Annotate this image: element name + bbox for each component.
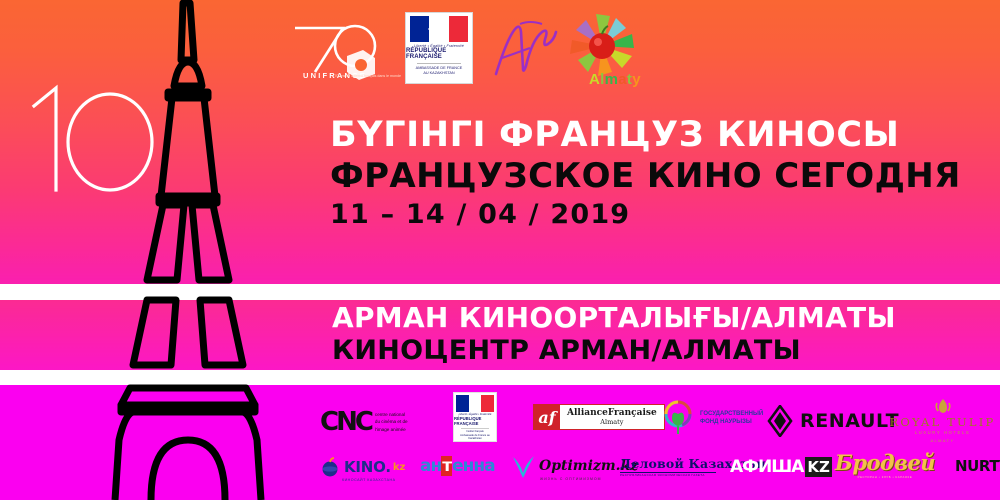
nurtv-kz-logo: NURTV KZ [955, 455, 1000, 477]
antenna-part-2: т [441, 456, 452, 476]
almaty-wordmark: Almaty [589, 71, 641, 88]
almaty-signature-icon [490, 18, 560, 80]
kino-wordmark: KINO. [344, 458, 391, 476]
renault-logo: RENAULT [767, 406, 899, 436]
french-flag-icon [456, 395, 494, 412]
alliance-francaise-logo: af AllianceFrançaise Almaty [533, 404, 665, 430]
delovoy-kazakhstan-tagline: РЕСПУБЛИКАНСКАЯ ЭКОНОМИЧЕСКАЯ ГАЗЕТА [620, 473, 705, 477]
cnc-wordmark: CNC [320, 407, 371, 437]
afisha-kz-logo: АФИША KZ [730, 455, 832, 479]
festival-poster: UNIFRANCE 70 ans de cinéma français dans… [0, 0, 1000, 500]
venue-block: АРМАН КИНООРТАЛЫҒЫ/АЛМАТЫ КИНОЦЕНТР АРМА… [332, 303, 972, 365]
antenna-part-1: ан [420, 456, 441, 476]
af-monogram: af [534, 405, 560, 429]
embassy-line-2: AU KAZAKHSTAN [423, 71, 454, 76]
divider [461, 428, 489, 429]
cnc-logo: CNC centre nationaldu cinéma et del'imag… [320, 406, 408, 438]
festival-title-kazakh: БҮГІНГІ ФРАНЦУЗ КИНОСЫ [330, 118, 970, 154]
royal-tulip-logo: ROYAL TULIP LUXURY HOTELS ALMATY [890, 398, 995, 443]
kino-suffix: kz [393, 462, 405, 473]
royal-tulip-city: ALMATY [930, 438, 954, 443]
renault-diamond-icon [767, 405, 793, 437]
tulip-flower-icon [661, 400, 695, 436]
royal-tulip-tagline: LUXURY HOTELS [915, 430, 971, 435]
nurtv-wordmark: NURTV [955, 457, 1000, 475]
headline-block: БҮГІНГІ ФРАНЦУЗ КИНОСЫ ФРАНЦУЗСКОЕ КИНО … [330, 118, 970, 230]
republique-francaise-embassy-logo: Liberté • Égalité • Fraternité RÉPUBLIQU… [405, 12, 473, 84]
antenna-part-3: енна [452, 456, 495, 476]
organizer-logo-strip: UNIFRANCE 70 ans de cinéma français dans… [285, 10, 665, 90]
royal-tulip-crown-icon [933, 398, 953, 414]
renault-wordmark: RENAULT [800, 410, 899, 432]
alliance-francaise-name: AllianceFrançaise [567, 408, 657, 418]
alliance-francaise-city: Almaty [567, 418, 657, 426]
brodvey-logo: Бродвей РЕСТОРАН • КЛУБ • КАРАОКЕ [835, 450, 935, 479]
republique-francaise-logo: Liberté • Égalité • Fraternité RÉPUBLIQU… [453, 392, 497, 442]
tulip-flower-logo: ГОСУДАРСТВЕННЫЙФОНД НАУРЫЗЫ [661, 400, 763, 436]
french-flag-icon [410, 16, 468, 42]
kino-apple-icon [320, 457, 340, 477]
republique-francaise-label: RÉPUBLIQUE FRANÇAISE [406, 48, 472, 60]
sponsor-logo-grid: CNC centre nationaldu cinéma et del'imag… [305, 392, 995, 497]
royal-tulip-wordmark: ROYAL TULIP [890, 415, 996, 429]
tulip-flower-text: ГОСУДАРСТВЕННЫЙФОНД НАУРЫЗЫ [700, 410, 763, 427]
marianne-profile-icon [426, 17, 456, 41]
venue-name-kazakh: АРМАН КИНООРТАЛЫҒЫ/АЛМАТЫ [332, 303, 972, 333]
optimizm-bird-icon [510, 453, 536, 479]
venue-name-russian: КИНОЦЕНТР АРМАН/АЛМАТЫ [332, 336, 972, 365]
festival-dates: 11 – 14 / 04 / 2019 [330, 200, 970, 230]
antenna-logo: антенна [420, 456, 495, 476]
brodvey-tagline: РЕСТОРАН • КЛУБ • КАРАОКЕ [858, 475, 913, 479]
kino-kz-logo: KINO. kz КИНОСАЙТ КАЗАХСТАНА [320, 454, 405, 480]
unifrance-70-logo: UNIFRANCE 70 ans de cinéma français dans… [285, 16, 397, 84]
almaty-city-star-logo: Almaty [557, 12, 657, 90]
republique-francaise-label: RÉPUBLIQUE FRANÇAISE [454, 416, 496, 426]
brodvey-wordmark: Бродвей [835, 450, 935, 475]
festival-title-russian: ФРАНЦУЗСКОЕ КИНО СЕГОДНЯ [330, 158, 970, 195]
divider [417, 63, 461, 64]
institut-line-2: Ambassade de France au Kazakhstan [454, 434, 496, 442]
kino-tagline: КИНОСАЙТ КАЗАХСТАНА [342, 478, 396, 482]
afisha-suffix: KZ [805, 457, 832, 477]
afisha-wordmark: АФИША [730, 457, 803, 477]
almaty-script-logo [490, 18, 560, 80]
unifrance-tagline: 70 ans de cinéma français dans le monde [334, 74, 401, 78]
optimizm-tagline: ЖИЗНЬ С ОПТИМИЗМОМ [540, 477, 602, 481]
cnc-tagline: centre nationaldu cinéma et del'image an… [375, 411, 408, 433]
optimizm-kz-logo: Optimizm.kz ЖИЗНЬ С ОПТИМИЗМОМ [510, 452, 638, 480]
